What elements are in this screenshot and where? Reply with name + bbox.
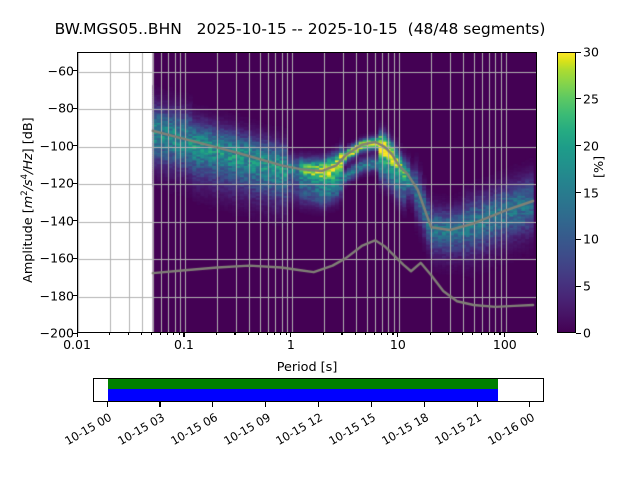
x-tick-minor-mark — [341, 333, 342, 335]
x-tick-minor-mark — [128, 333, 129, 335]
x-tick-minor-mark — [267, 333, 268, 335]
x-tick-minor-mark — [258, 333, 259, 335]
x-tick-minor-mark — [216, 333, 217, 335]
x-tick-mark — [504, 333, 505, 337]
x-tick-label: 0.1 — [174, 337, 194, 352]
colorbar-tick-mark — [576, 286, 581, 287]
x-tick-minor-mark — [462, 333, 463, 335]
x-tick-minor-mark — [151, 333, 152, 335]
y-axis-label: Amplitude [m2/s4/Hz] [dB] — [20, 60, 36, 340]
x-tick-minor-mark — [274, 333, 275, 335]
y-tick-mark — [73, 295, 77, 296]
ppsd-plot-area[interactable] — [77, 52, 537, 333]
x-tick-minor-mark — [286, 333, 287, 335]
colorbar-tick-label: 10 — [583, 232, 599, 247]
x-tick-mark — [397, 333, 398, 337]
x-tick-mark — [77, 333, 78, 337]
colorbar-tick-label: 5 — [583, 279, 591, 294]
y-tick-mark — [73, 108, 77, 109]
x-tick-minor-mark — [494, 333, 495, 335]
page-title: BW.MGS05..BHN 2025-10-15 -- 2025-10-15 (… — [0, 20, 600, 38]
colorbar-label: [%] — [592, 156, 607, 178]
colorbar-tick-label: 0 — [583, 326, 591, 341]
colorbar-tick-label: 25 — [583, 91, 599, 106]
colorbar-tick-mark — [576, 52, 581, 53]
timeline-tick-label: 10-15 12 — [261, 410, 325, 455]
timeline-tick-mark — [424, 402, 425, 407]
timeline-tick-label: 10-15 03 — [103, 410, 167, 455]
x-tick-minor-mark — [472, 333, 473, 335]
timeline-tick-label: 10-16 00 — [473, 410, 537, 455]
x-tick-minor-mark — [179, 333, 180, 335]
colorbar-tick-mark — [576, 333, 581, 334]
timeline-tick-mark — [477, 402, 478, 407]
x-tick-minor-mark — [488, 333, 489, 335]
colorbar-tick-label: 30 — [583, 45, 599, 60]
x-tick-minor-mark — [537, 333, 538, 335]
x-tick-minor-mark — [234, 333, 235, 335]
x-tick-minor-mark — [160, 333, 161, 335]
x-tick-minor-mark — [355, 333, 356, 335]
x-tick-minor-mark — [173, 333, 174, 335]
x-tick-minor-mark — [430, 333, 431, 335]
timeline-band-green — [108, 379, 498, 389]
timeline-tick-label: 10-15 00 — [50, 410, 114, 455]
y-tick-mark — [73, 183, 77, 184]
colorbar-tick-mark — [576, 145, 581, 146]
x-tick-label: 1 — [287, 337, 295, 352]
x-tick-mark — [290, 333, 291, 337]
timeline-tick-mark — [265, 402, 266, 407]
x-tick-minor-mark — [280, 333, 281, 335]
y-tick-label: −180 — [40, 288, 74, 303]
timeline-tick-mark — [371, 402, 372, 407]
x-tick-minor-mark — [365, 333, 366, 335]
y-tick-label: −160 — [40, 251, 74, 266]
peterson-noise-model-curves — [78, 53, 537, 333]
colorbar-tick-mark — [576, 192, 581, 193]
x-tick-minor-mark — [387, 333, 388, 335]
y-tick-label: −120 — [40, 176, 74, 191]
colorbar-tick-label: 20 — [583, 138, 599, 153]
timeline-tick-label: 10-15 21 — [420, 410, 484, 455]
timeline-tick-mark — [159, 402, 160, 407]
x-tick-minor-mark — [392, 333, 393, 335]
colorbar-tick-mark — [576, 98, 581, 99]
x-tick-minor-mark — [248, 333, 249, 335]
colorbar-tick-label: 15 — [583, 185, 599, 200]
colorbar-tick-mark — [576, 239, 581, 240]
x-axis-label: Period [s] — [77, 360, 537, 375]
timeline-tick-mark — [318, 402, 319, 407]
x-tick-minor-mark — [448, 333, 449, 335]
x-tick-minor-mark — [374, 333, 375, 335]
x-tick-label: 10 — [390, 337, 406, 352]
y-tick-mark — [73, 258, 77, 259]
y-tick-label: −100 — [40, 138, 74, 153]
y-tick-mark — [73, 145, 77, 146]
timeline-tick-mark — [529, 402, 530, 407]
y-tick-label: −80 — [48, 101, 74, 116]
x-tick-minor-mark — [141, 333, 142, 335]
x-tick-minor-mark — [499, 333, 500, 335]
x-tick-minor-mark — [109, 333, 110, 335]
timeline-tick-mark — [107, 402, 108, 407]
colorbar-gradient — [557, 52, 576, 333]
y-tick-mark — [73, 70, 77, 71]
x-tick-label: 0.01 — [63, 337, 91, 352]
y-tick-label: −140 — [40, 213, 74, 228]
x-tick-minor-mark — [167, 333, 168, 335]
y-tick-mark — [73, 220, 77, 221]
timeline-tick-label: 10-15 06 — [156, 410, 220, 455]
timeline-band-blue — [108, 389, 498, 401]
timeline-tick-label: 10-15 18 — [367, 410, 431, 455]
ppsd-figure: BW.MGS05..BHN 2025-10-15 -- 2025-10-15 (… — [0, 0, 640, 480]
x-tick-minor-mark — [323, 333, 324, 335]
timeline-coverage-axes[interactable] — [93, 378, 544, 402]
timeline-tick-label: 10-15 15 — [314, 410, 378, 455]
x-tick-mark — [183, 333, 184, 337]
x-tick-minor-mark — [381, 333, 382, 335]
colorbar[interactable] — [557, 52, 576, 333]
timeline-tick-mark — [212, 402, 213, 407]
x-tick-minor-mark — [481, 333, 482, 335]
x-tick-label: 100 — [493, 337, 517, 352]
y-tick-label: −60 — [48, 63, 74, 78]
